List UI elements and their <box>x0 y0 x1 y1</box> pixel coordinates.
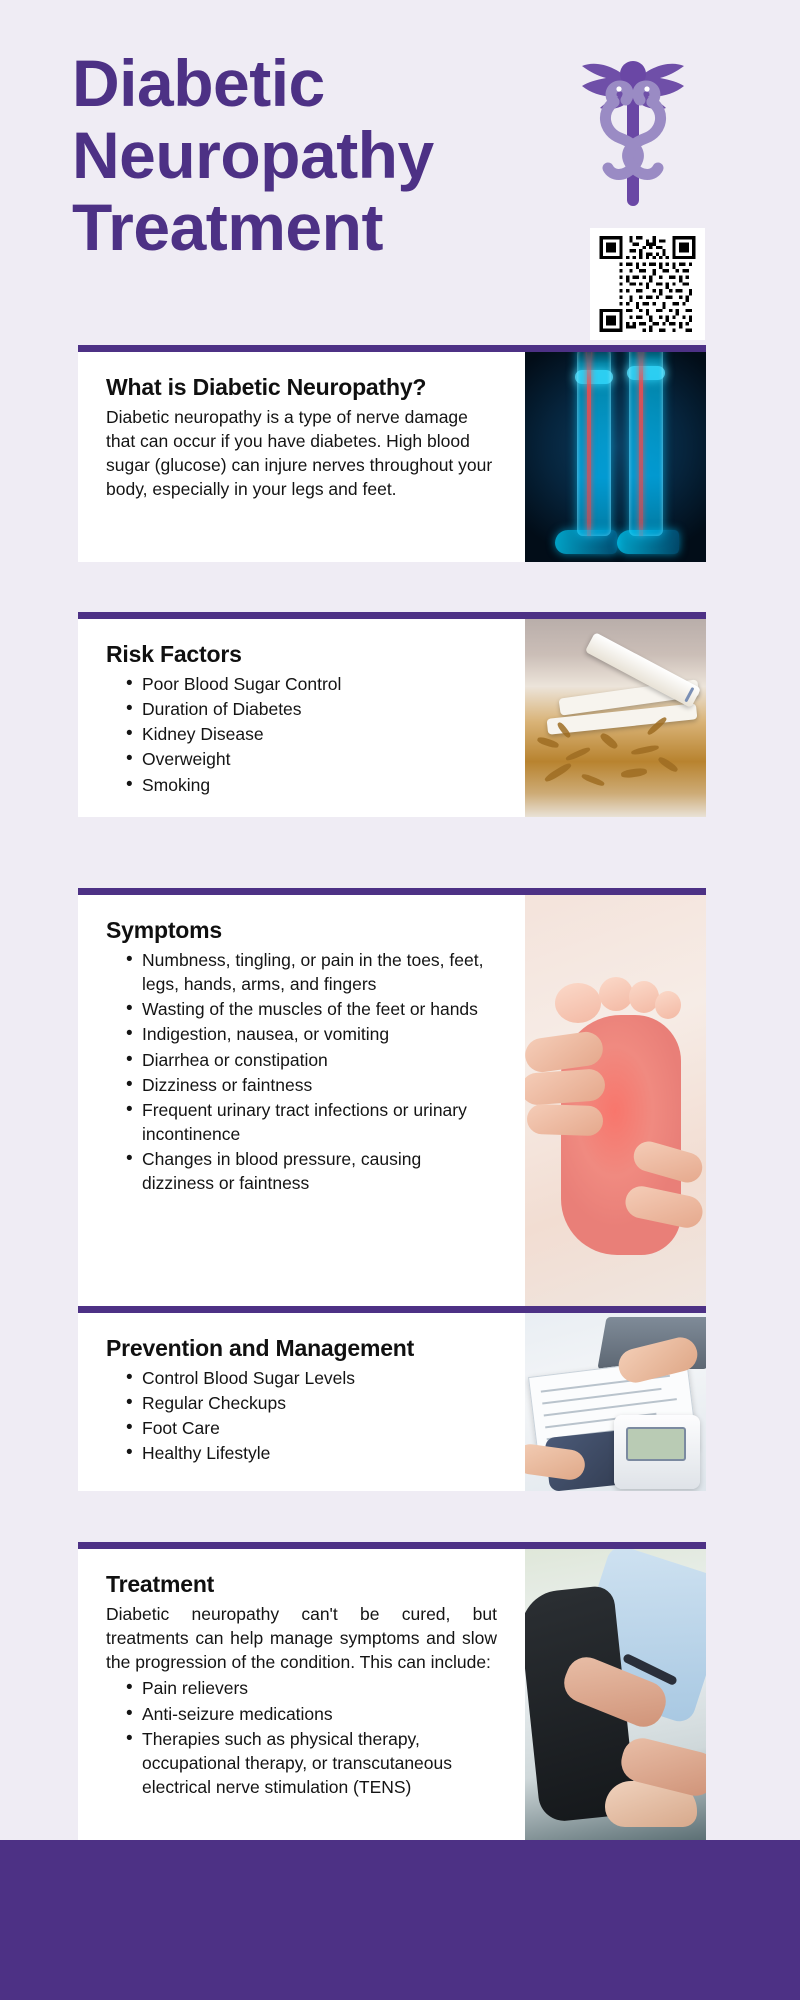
list-item: Pain relievers <box>106 1676 497 1700</box>
section-image-tobacco <box>525 619 706 817</box>
list-item: Duration of Diabetes <box>106 697 497 721</box>
section-body: Diabetic neuropathy can't be cured, but … <box>106 1602 497 1674</box>
list-item: Regular Checkups <box>106 1391 497 1415</box>
section-divider <box>78 1306 706 1313</box>
poster-header: Diabetic Neuropathy Treatment <box>0 0 800 345</box>
section-heading: Symptoms <box>106 917 497 944</box>
list-item: Diarrhea or constipation <box>106 1048 497 1072</box>
section-heading: Risk Factors <box>106 641 497 668</box>
section-text: Prevention and Management Control Blood … <box>78 1313 525 1491</box>
title-line-3: Treatment <box>72 192 592 264</box>
list-item: Foot Care <box>106 1416 497 1440</box>
title-line-2: Neuropathy <box>72 120 592 192</box>
section-heading: Prevention and Management <box>106 1335 497 1362</box>
section-bullet-list: Control Blood Sugar Levels Regular Check… <box>106 1366 497 1466</box>
list-item: Wasting of the muscles of the feet or ha… <box>106 997 497 1021</box>
qr-code[interactable] <box>590 228 705 340</box>
list-item: Healthy Lifestyle <box>106 1441 497 1465</box>
section-divider <box>78 888 706 895</box>
caduceus-icon <box>578 50 688 215</box>
list-item: Numbness, tingling, or pain in the toes,… <box>106 948 497 996</box>
section-image-nerves <box>525 352 706 562</box>
list-item: Overweight <box>106 747 497 771</box>
section-card: Treatment Diabetic neuropathy can't be c… <box>78 1549 706 1845</box>
section-card: What is Diabetic Neuropathy? Diabetic ne… <box>78 352 706 562</box>
section-text: Symptoms Numbness, tingling, or pain in … <box>78 895 525 1310</box>
section-heading: What is Diabetic Neuropathy? <box>106 374 497 401</box>
section-bullet-list: Pain relievers Anti-seizure medications … <box>106 1676 497 1799</box>
list-item: Anti-seizure medications <box>106 1702 497 1726</box>
section-bullet-list: Poor Blood Sugar Control Duration of Dia… <box>106 672 497 797</box>
section-card: Symptoms Numbness, tingling, or pain in … <box>78 895 706 1310</box>
section-divider <box>78 612 706 619</box>
section-text: Risk Factors Poor Blood Sugar Control Du… <box>78 619 525 817</box>
title-line-1: Diabetic <box>72 48 592 120</box>
section-heading: Treatment <box>106 1571 497 1598</box>
page-title: Diabetic Neuropathy Treatment <box>72 48 592 264</box>
list-item: Kidney Disease <box>106 722 497 746</box>
list-item: Changes in blood pressure, causing dizzi… <box>106 1147 497 1195</box>
list-item: Smoking <box>106 773 497 797</box>
section-text: What is Diabetic Neuropathy? Diabetic ne… <box>78 352 525 562</box>
section-body: Diabetic neuropathy is a type of nerve d… <box>106 405 497 502</box>
list-item: Control Blood Sugar Levels <box>106 1366 497 1390</box>
list-item: Indigestion, nausea, or vomiting <box>106 1022 497 1046</box>
footer-bar <box>0 1840 800 2000</box>
section-image-blood-pressure <box>525 1313 706 1491</box>
section-card: Risk Factors Poor Blood Sugar Control Du… <box>78 619 706 817</box>
list-item: Frequent urinary tract infections or uri… <box>106 1098 497 1146</box>
list-item: Dizziness or faintness <box>106 1073 497 1097</box>
infographic-poster: Diabetic Neuropathy Treatment <box>0 0 800 2000</box>
section-image-physical-therapy <box>525 1549 706 1845</box>
list-item: Therapies such as physical therapy, occu… <box>106 1727 497 1799</box>
section-divider <box>78 1542 706 1549</box>
section-image-foot-pain <box>525 895 706 1310</box>
section-text: Treatment Diabetic neuropathy can't be c… <box>78 1549 525 1845</box>
list-item: Poor Blood Sugar Control <box>106 672 497 696</box>
section-divider <box>78 345 706 352</box>
section-card: Prevention and Management Control Blood … <box>78 1313 706 1491</box>
section-bullet-list: Numbness, tingling, or pain in the toes,… <box>106 948 497 1195</box>
